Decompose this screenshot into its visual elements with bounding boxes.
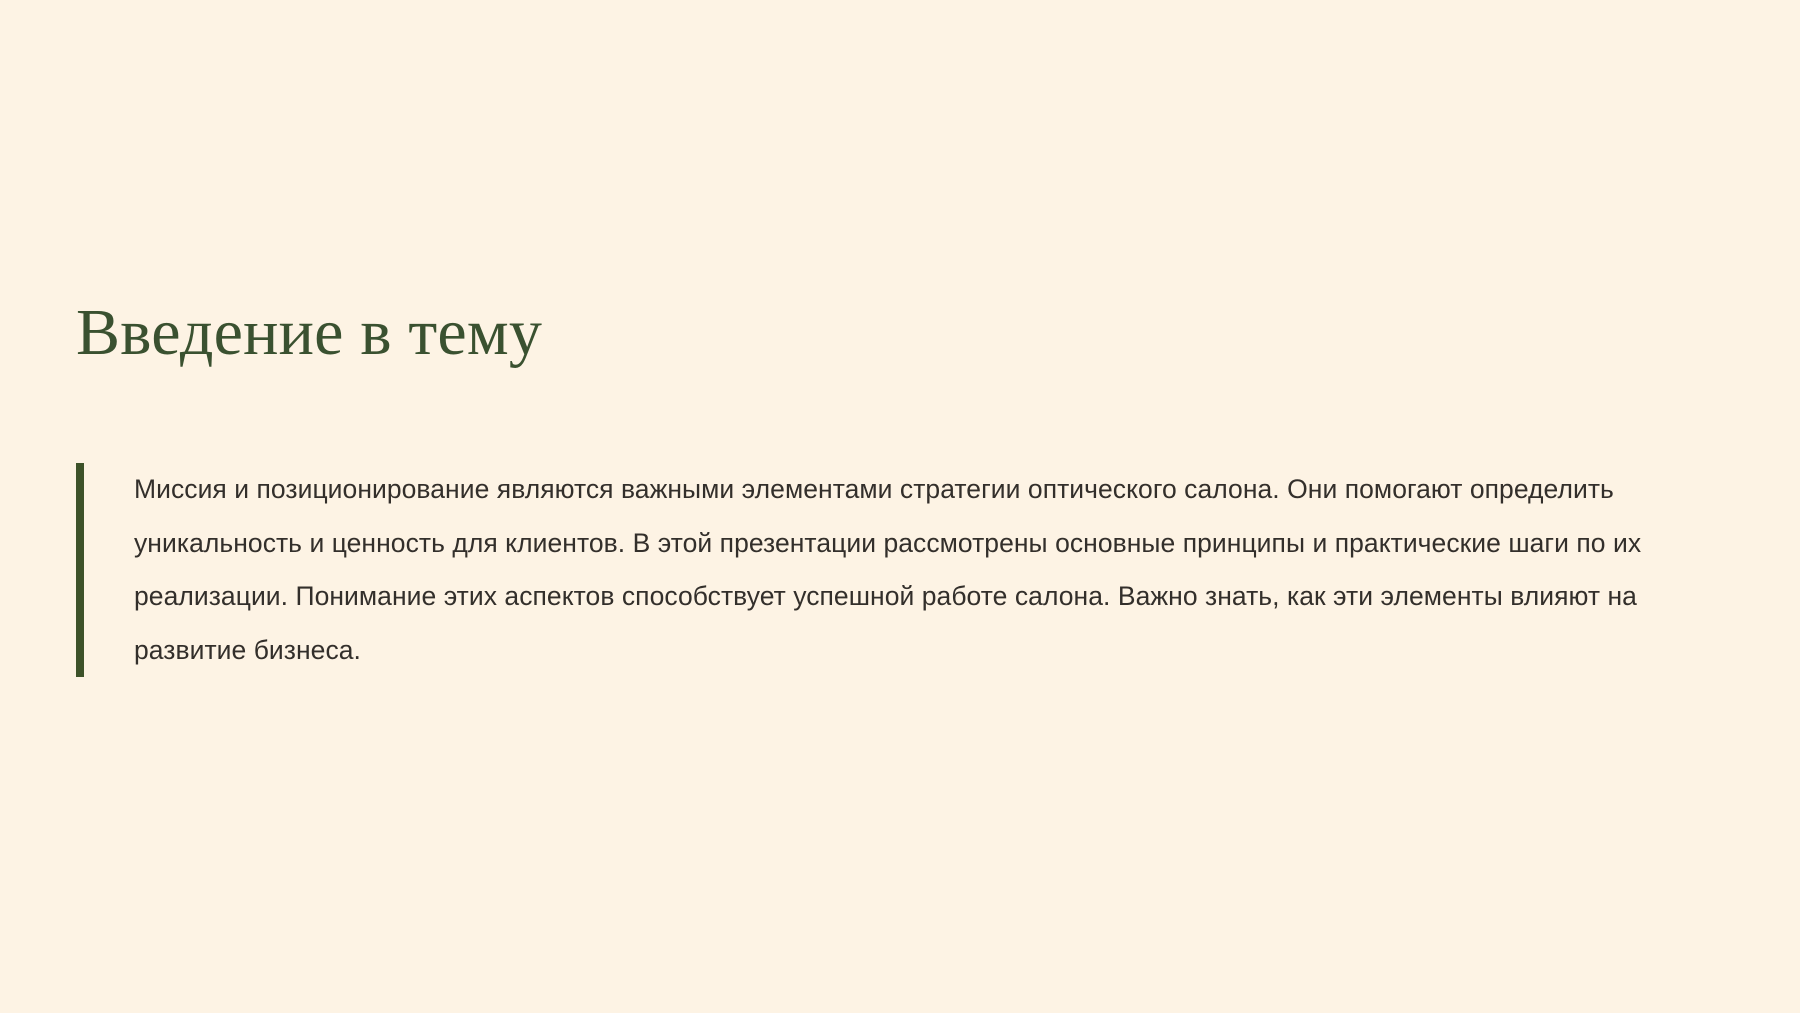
body-paragraph: Миссия и позиционирование являются важны… [84,463,1726,677]
accent-bar [76,463,84,677]
body-quote-block: Миссия и позиционирование являются важны… [76,463,1726,677]
presentation-slide: Введение в тему Миссия и позиционировани… [0,0,1800,1013]
page-title: Введение в тему [76,296,542,370]
